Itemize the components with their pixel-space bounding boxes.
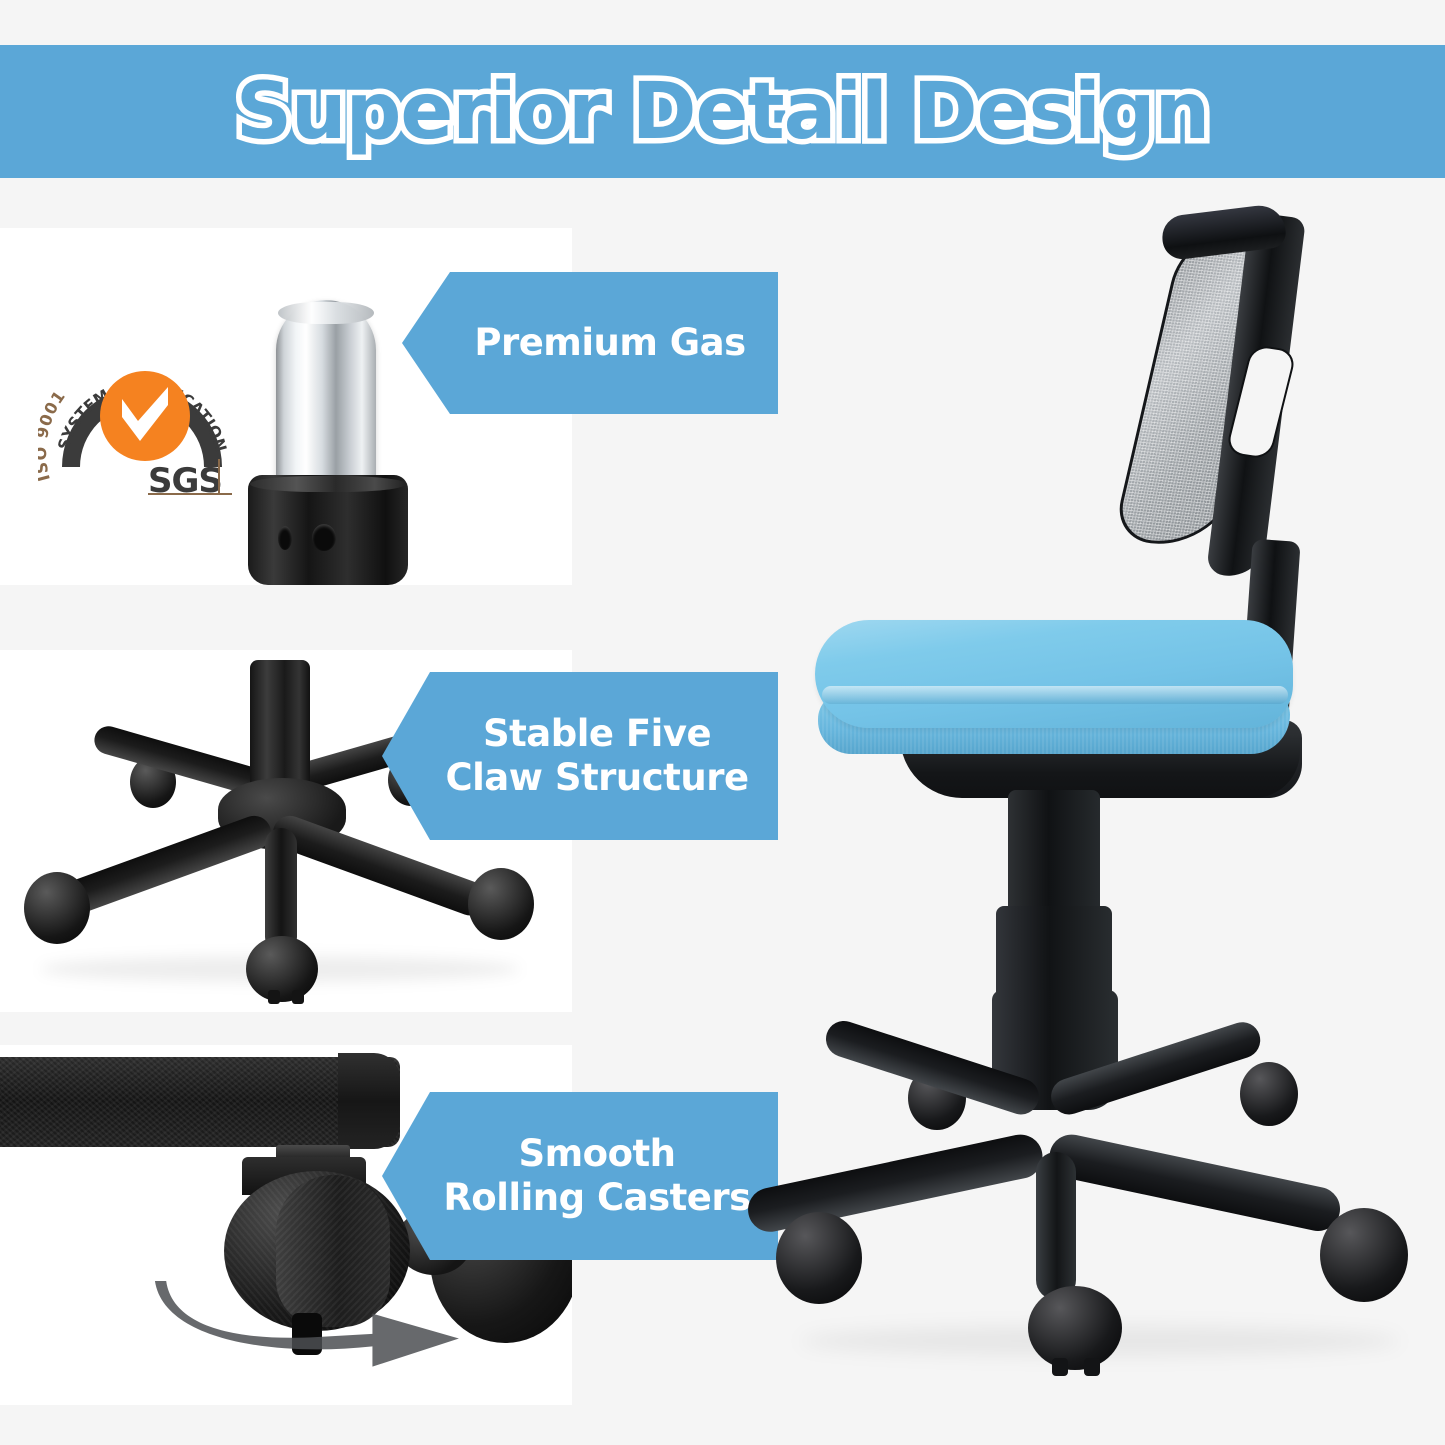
callout-five-claw: Stable Five Claw Structure: [382, 672, 778, 840]
caster-wheel: [24, 872, 90, 944]
caster-wheel: [246, 936, 318, 1002]
gas-housing-hole: [278, 526, 292, 550]
callout-rolling-casters-line1: Smooth: [518, 1132, 675, 1175]
product-chair-image: [740, 200, 1445, 1405]
swivel-rotation-arrow-icon: [150, 1281, 480, 1391]
chair-caster-front-right: [1320, 1208, 1408, 1302]
chair-base-leg-front-right: [1045, 1130, 1344, 1235]
sgs-brand-text: SGS: [148, 461, 222, 501]
sgs-tick-horizontal: [148, 493, 232, 495]
chair-caster-front-left: [776, 1212, 862, 1304]
callout-five-claw-line2: Claw Structure: [445, 756, 748, 799]
callout-rolling-casters: Smooth Rolling Casters: [382, 1092, 778, 1260]
callout-five-claw-line1: Stable Five: [483, 712, 711, 755]
page-title: Superior Detail Design: [236, 67, 1209, 157]
caster-stem: [292, 990, 304, 1004]
gas-housing-hole: [312, 524, 336, 551]
header-banner: Superior Detail Design: [0, 45, 1445, 178]
gas-piston-cap: [278, 302, 374, 324]
gas-piston-rod: [276, 300, 376, 485]
gas-housing-lip: [250, 476, 406, 492]
chair-base-leg-front-left: [744, 1130, 1047, 1235]
caster-wheel: [468, 868, 534, 940]
chair-gas-lift-upper: [1008, 790, 1100, 922]
chair-caster-stem: [1052, 1358, 1068, 1376]
chair-caster-rear-right: [1240, 1062, 1298, 1126]
chair-caster-front-center: [1028, 1286, 1122, 1370]
gas-cylinder-illustration: [248, 300, 408, 585]
caster-stem: [268, 990, 280, 1004]
sgs-tick-vertical: [218, 459, 220, 493]
seat-welt-seam: [822, 686, 1288, 704]
callout-premium-gas: Premium Gas: [402, 272, 778, 414]
callout-rolling-casters-line2: Rolling Casters: [443, 1176, 750, 1219]
chair-caster-stem: [1084, 1358, 1100, 1376]
sgs-certification-logo: SYSTEM CERTIFICATION ISO 9001 SGS: [38, 335, 243, 515]
base-arm-end: [338, 1053, 400, 1149]
sgs-checkmark-icon: [120, 387, 170, 441]
base-leg-front-center: [265, 828, 297, 953]
callout-premium-gas-label: Premium Gas: [474, 321, 745, 365]
seat-cushion: [815, 620, 1293, 728]
chair-base-leg-front-center: [1036, 1152, 1076, 1300]
